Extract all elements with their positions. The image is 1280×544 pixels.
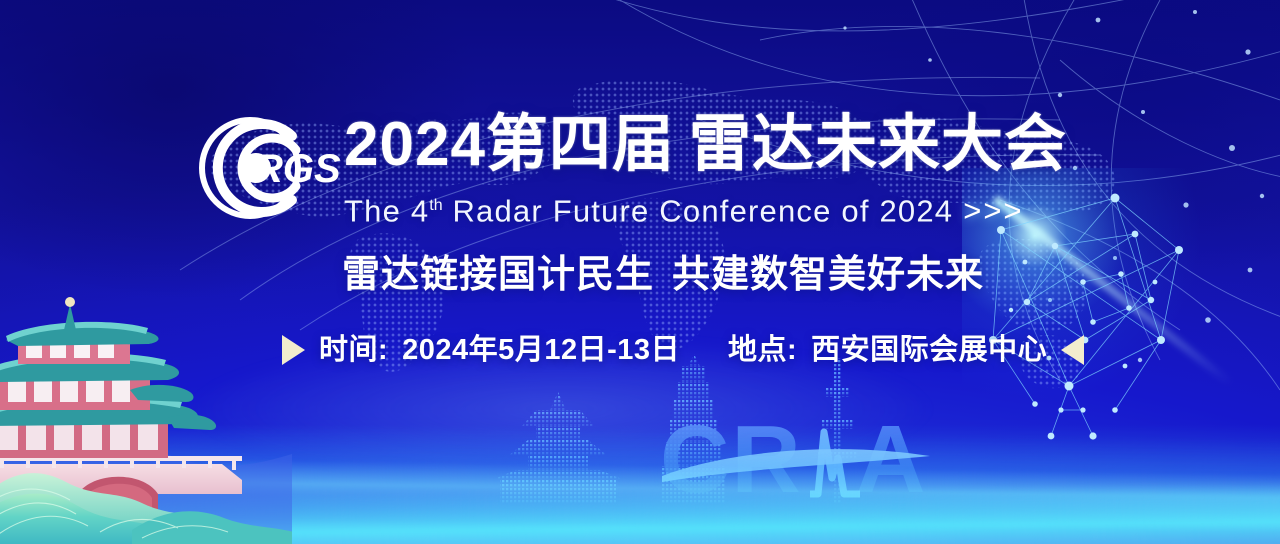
tagline-part2: 共建数智美好未来 [672,254,984,296]
main-title: 2024第四届雷达未来大会 [344,108,1067,182]
time-value: 2024年5月12日-13日 [402,330,680,370]
main-title-event: 雷达未来大会 [689,110,1067,179]
subtitle-ordinal-suffix: th [429,197,442,214]
venue-label: 地点: [728,330,797,370]
play-triangle-right-icon [282,335,305,365]
venue-value: 西安国际会展中心 [811,330,1047,370]
play-triangle-left-icon [1061,335,1084,365]
rgs-logo: RGS [196,114,342,222]
main-title-year: 2024第四届 [344,110,675,179]
time-label: 时间: [319,330,388,370]
subtitle-body: Radar Future Conference of 2024 [443,193,954,228]
conference-banner: CR A [0,0,1280,544]
subtitle-ordinal: 4 [411,193,429,228]
event-info-line: 时间: 2024年5月12日-13日 地点: 西安国际会展中心 [282,330,1084,370]
chevrons-icon: >>> [963,193,1023,228]
english-subtitle: The 4th Radar Future Conference of 2024>… [344,186,1024,231]
tagline-part1: 雷达链接国计民生 [342,254,654,296]
tagline: 雷达链接国计民生共建数智美好未来 [342,250,984,300]
subtitle-prefix: The [344,193,411,228]
rgs-logo-text: RGS [254,147,341,191]
